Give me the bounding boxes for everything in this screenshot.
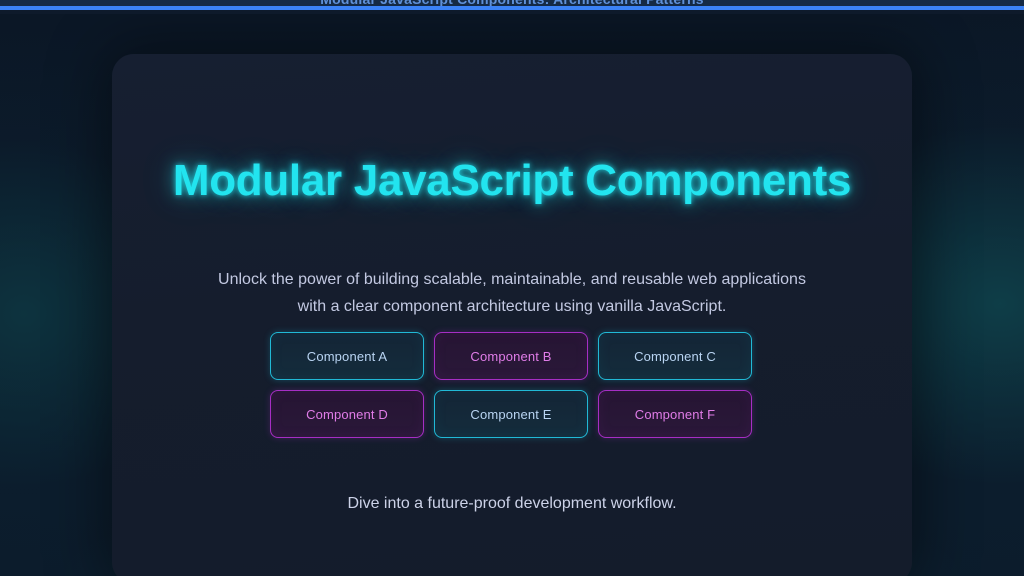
hero-card-content: Modular JavaScript Components Unlock the…: [112, 54, 912, 576]
browser-chrome-shadow: [0, 10, 1024, 14]
hero-card: Modular JavaScript Components Unlock the…: [112, 54, 912, 576]
hero-subtitle: Unlock the power of building scalable, m…: [217, 266, 807, 320]
component-chip-label: Component C: [634, 349, 716, 364]
component-chip-label: Component A: [307, 349, 387, 364]
component-chip[interactable]: Component E: [434, 390, 588, 438]
browser-chrome: Modular JavaScript Components: Architect…: [0, 0, 1024, 14]
component-grid: Component AComponent BComponent CCompone…: [270, 332, 754, 438]
footer-note: Dive into a future-proof development wor…: [172, 495, 852, 513]
component-chip[interactable]: Component C: [598, 332, 752, 380]
component-chip[interactable]: Component B: [434, 332, 588, 380]
page-title: Modular JavaScript Components: [172, 155, 852, 207]
component-chip[interactable]: Component A: [270, 332, 424, 380]
component-chip-label: Component D: [306, 407, 388, 422]
component-chip[interactable]: Component D: [270, 390, 424, 438]
component-chip-label: Component B: [470, 349, 551, 364]
component-chip-label: Component F: [635, 407, 715, 422]
component-chip[interactable]: Component F: [598, 390, 752, 438]
page-background: Modular JavaScript Components Unlock the…: [0, 14, 1024, 576]
component-chip-label: Component E: [470, 407, 551, 422]
